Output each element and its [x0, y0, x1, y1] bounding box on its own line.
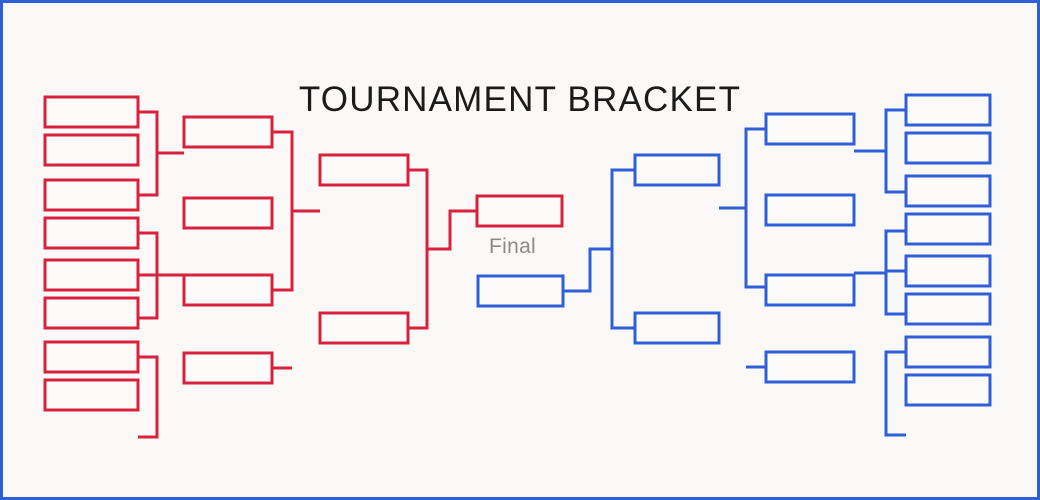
- bracket-slot-semifinals-right-2[interactable]: [635, 313, 719, 343]
- bracket-slot-quarterfinals-right-4[interactable]: [766, 352, 854, 382]
- bracket-slot-quarterfinals-right-2[interactable]: [766, 195, 854, 225]
- bracket-slot-round-of-16-left-3[interactable]: [45, 180, 138, 210]
- bracket-slot-round-of-16-left-4[interactable]: [45, 218, 138, 248]
- bracket-connector: [886, 110, 906, 192]
- bracket-slot-round-of-16-right-5[interactable]: [906, 256, 990, 286]
- bracket-slot-round-of-16-right-4[interactable]: [906, 214, 990, 244]
- right-bracket-connectors: [563, 110, 906, 435]
- bracket-slot-quarterfinals-left-3[interactable]: [184, 275, 272, 305]
- bracket-connector: [563, 249, 612, 291]
- bracket-connector: [272, 132, 292, 290]
- bracket-slot-final-right-1[interactable]: [478, 276, 563, 306]
- bracket-slot-quarterfinals-left-1[interactable]: [184, 117, 272, 147]
- bracket-connector: [612, 170, 635, 328]
- bracket-slot-quarterfinals-left-2[interactable]: [184, 198, 272, 228]
- bracket-slot-final-left-1[interactable]: [477, 196, 562, 226]
- bracket-connector: [138, 112, 157, 195]
- final-round-label: Final: [489, 235, 536, 259]
- bracket-connector: [886, 352, 906, 435]
- bracket-slot-quarterfinals-right-3[interactable]: [766, 275, 854, 305]
- bracket-slot-round-of-16-right-6[interactable]: [906, 294, 990, 324]
- bracket-slot-round-of-16-left-6[interactable]: [45, 298, 138, 328]
- bracket-slot-round-of-16-right-2[interactable]: [906, 133, 990, 163]
- tournament-bracket-page: TOURNAMENT BRACKET Final: [0, 0, 1040, 500]
- bracket-slot-semifinals-left-1[interactable]: [320, 155, 408, 185]
- bracket-slot-round-of-16-right-3[interactable]: [906, 176, 990, 206]
- bracket-connector: [427, 211, 477, 249]
- bracket-slot-round-of-16-left-5[interactable]: [45, 260, 138, 290]
- bracket-connector: [138, 357, 157, 437]
- bracket-slot-round-of-16-right-8[interactable]: [906, 375, 990, 405]
- right-bracket-slots: [478, 95, 990, 405]
- left-bracket-slots: [45, 97, 562, 410]
- bracket-slot-round-of-16-left-7[interactable]: [45, 342, 138, 372]
- bracket-slot-semifinals-left-2[interactable]: [320, 313, 408, 343]
- bracket-connector: [408, 170, 427, 328]
- bracket-slot-round-of-16-left-8[interactable]: [45, 380, 138, 410]
- bracket-slot-semifinals-right-1[interactable]: [635, 155, 719, 185]
- bracket-slot-round-of-16-left-2[interactable]: [45, 135, 138, 165]
- bracket-connector: [746, 129, 766, 287]
- page-title: TOURNAMENT BRACKET: [0, 80, 1040, 120]
- bracket-slot-round-of-16-right-7[interactable]: [906, 337, 990, 367]
- bracket-slot-quarterfinals-left-4[interactable]: [184, 353, 272, 383]
